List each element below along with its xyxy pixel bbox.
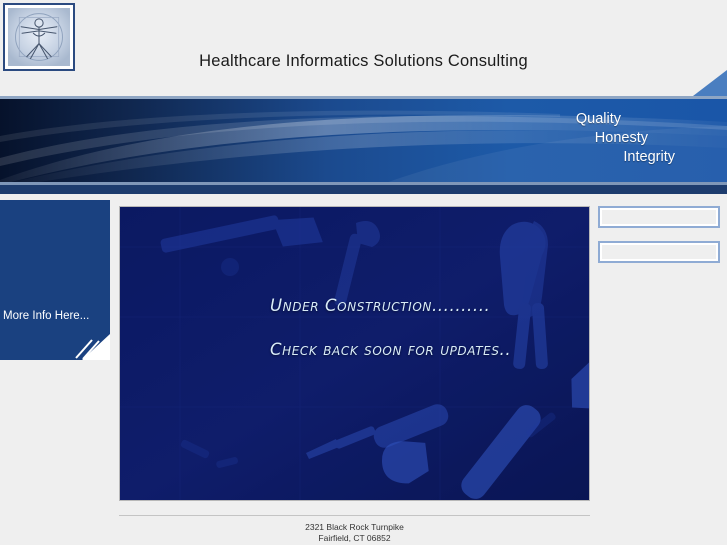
sidebar-panel[interactable]: More Info Here...	[0, 200, 110, 360]
footer-divider	[119, 515, 590, 516]
side-box-1-value	[602, 210, 716, 224]
footer-address-line-1: 2321 Black Rock Turnpike	[119, 522, 590, 533]
side-box-2[interactable]	[598, 241, 720, 263]
banner-top-edge	[0, 96, 727, 99]
tagline-line-2: Honesty	[576, 129, 648, 148]
tagline-line-3: Integrity	[576, 148, 675, 167]
corner-fold-decoration	[70, 328, 110, 360]
construction-line-2: Check back soon for updates..	[270, 340, 511, 359]
page-header: Healthcare Informatics Solutions Consult…	[0, 0, 727, 96]
content-area: More Info Here...	[0, 194, 727, 545]
side-box-2-value	[602, 245, 716, 259]
tagline: Quality Honesty Integrity	[576, 110, 621, 167]
hero-banner: Quality Honesty Integrity	[0, 96, 727, 185]
banner-underline-bar	[0, 185, 727, 194]
side-box-1[interactable]	[598, 206, 720, 228]
tagline-line-1: Quality	[576, 110, 621, 129]
sidebar-item-more-info[interactable]: More Info Here...	[3, 310, 89, 322]
page-title: Healthcare Informatics Solutions Consult…	[0, 52, 727, 71]
footer-address-line-2: Fairfield, CT 06852	[119, 533, 590, 544]
construction-message: Under Construction.......... Check back …	[120, 207, 590, 501]
footer-address: 2321 Black Rock Turnpike Fairfield, CT 0…	[119, 522, 590, 544]
construction-line-1: Under Construction..........	[270, 296, 490, 315]
under-construction-image: Under Construction.......... Check back …	[119, 206, 590, 501]
side-boxes-group	[598, 206, 720, 276]
corner-accent-triangle	[687, 70, 727, 96]
